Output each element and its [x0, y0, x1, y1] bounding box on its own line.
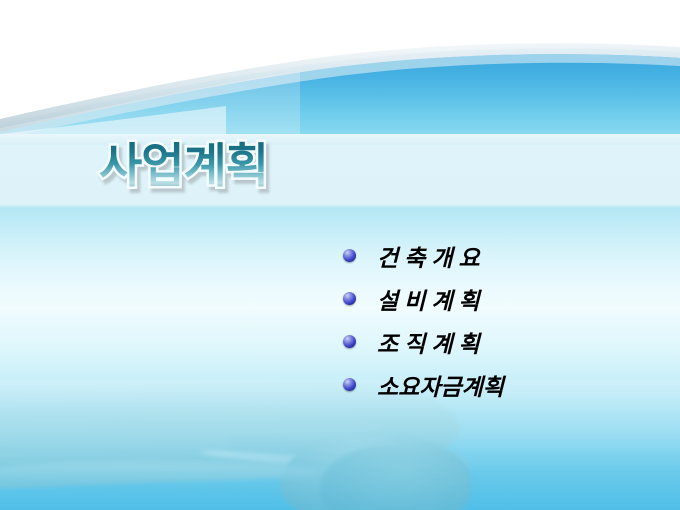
presentation-slide: 사업계획 사업계획 사업계획 건축개요 설비계획 조직계획 소요자금계획	[0, 0, 680, 510]
slide-title-fill: 사업계획	[99, 139, 268, 194]
blue-sphere-bullet-icon	[343, 378, 356, 391]
photo-haze-overlay	[0, 380, 680, 510]
list-item[interactable]: 건축개요	[343, 234, 504, 277]
list-item[interactable]: 설비계획	[343, 277, 504, 320]
blue-sphere-bullet-icon	[343, 335, 356, 348]
slide-title: 사업계획 사업계획 사업계획	[99, 143, 268, 190]
blue-sphere-bullet-icon	[343, 249, 356, 262]
header-swoosh-graphic	[0, 0, 680, 140]
coastal-landscape-photo	[0, 380, 680, 510]
blue-sphere-bullet-icon	[343, 292, 356, 305]
list-item-label: 설비계획	[377, 282, 486, 316]
list-item-label: 조직계획	[377, 325, 486, 359]
list-item-label: 건축개요	[377, 239, 486, 273]
list-item[interactable]: 조직계획	[343, 320, 504, 363]
list-item[interactable]: 소요자금계획	[343, 363, 504, 406]
swoosh-svg	[0, 0, 680, 145]
list-item-label: 소요자금계획	[377, 368, 504, 402]
bullet-list: 건축개요 설비계획 조직계획 소요자금계획	[343, 234, 504, 406]
